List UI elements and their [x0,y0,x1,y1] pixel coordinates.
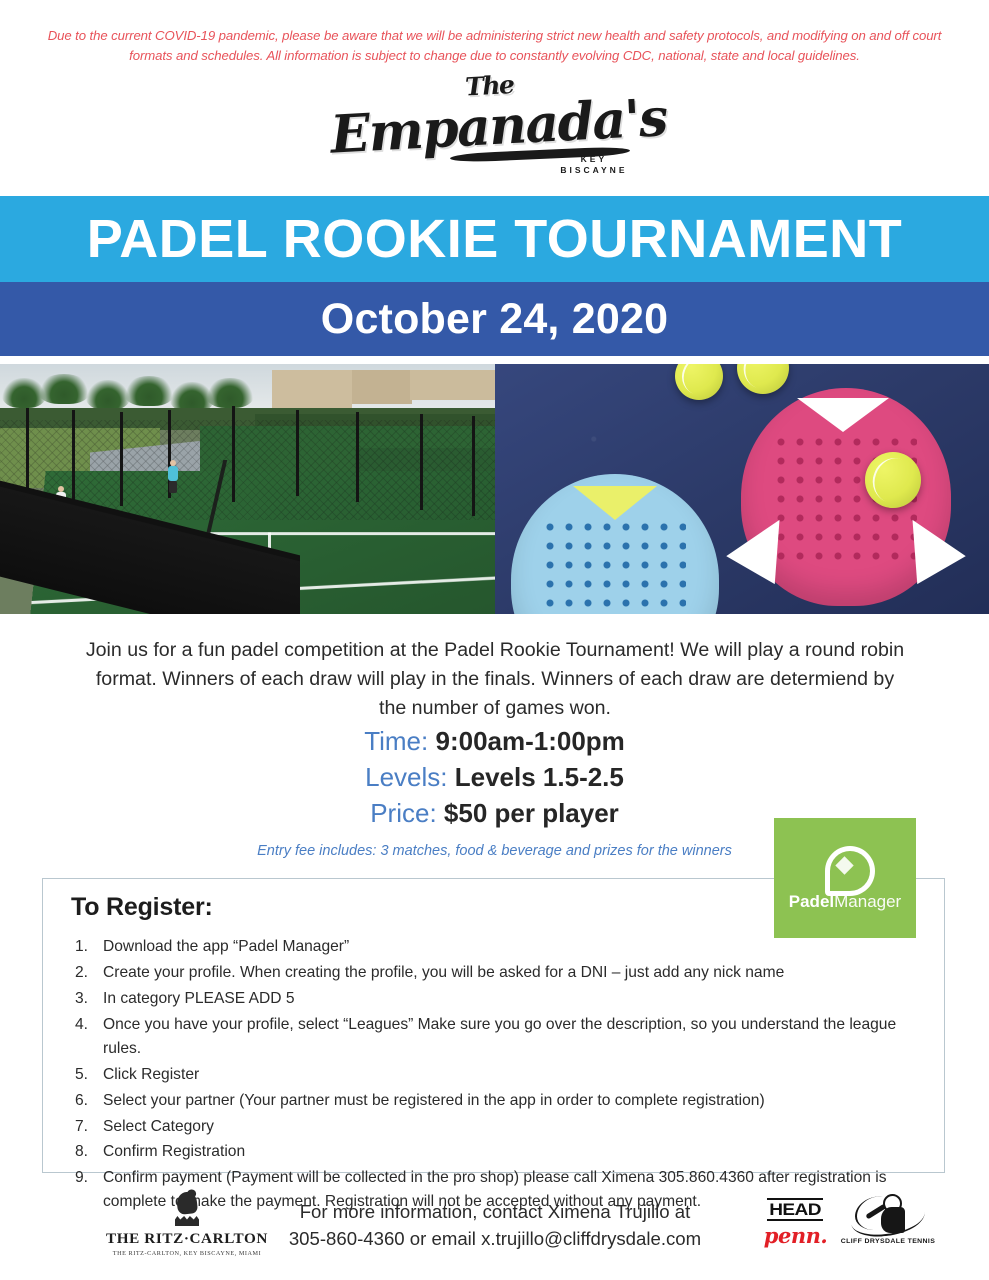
flyer-page: Due to the current COVID-19 pandemic, pl… [0,0,989,1280]
list-item: 2.Create your profile. When creating the… [61,961,927,985]
fence-post [72,410,75,510]
detail-label-time: Time: [364,726,428,756]
event-details: Time: 9:00am-1:00pm Levels: Levels 1.5-2… [0,723,989,831]
photo-strip [0,364,989,614]
empanadas-logo: The Empanada's KEY BISCAYNE [0,80,989,185]
tennis-player-icon [851,1194,925,1236]
padel-manager-pin-icon [825,846,865,888]
padel-manager-light: Manager [834,892,901,911]
pink-padel-racket [741,388,951,606]
detail-value-price: $50 per player [444,798,619,828]
list-item: 3.In category PLEASE ADD 5 [61,987,927,1011]
fence-post [356,412,359,502]
list-item: 7.Select Category [61,1115,927,1139]
logo-location: KEY BISCAYNE [560,154,627,176]
contact-line-1: For more information, contact Ximena Tru… [260,1198,730,1225]
step-number: 3. [75,987,97,1011]
detail-label-levels: Levels: [365,762,447,792]
player-silhouette [168,460,178,493]
cliff-drysdale-tennis-logo: CLIFF DRYSDALE TENNIS [838,1194,938,1245]
covid-notice: Due to the current COVID-19 pandemic, pl… [40,26,949,66]
head-wordmark: HEAD [767,1198,823,1221]
step-number: 6. [75,1089,97,1113]
fence-post [232,406,235,502]
detail-value-time: 9:00am-1:00pm [435,726,624,756]
list-item: 4.Once you have your profile, select “Le… [61,1013,927,1060]
background-building [410,370,495,400]
background-building [272,370,352,410]
cliff-drysdale-label: CLIFF DRYSDALE TENNIS [836,1238,941,1245]
register-heading: To Register: [71,893,213,922]
ritz-carlton-logo: THE RITZ·CARLTON THE RITZ-CARLTON, KEY B… [92,1192,282,1259]
padel-manager-logo: PadelManager [774,818,916,938]
detail-row-time: Time: 9:00am-1:00pm [0,723,989,759]
step-number: 7. [75,1115,97,1139]
step-text: In category PLEASE ADD 5 [103,990,295,1007]
fence-post [296,410,299,496]
step-number: 5. [75,1063,97,1087]
padel-manager-wordmark: PadelManager [789,892,901,911]
tennis-ball [865,452,921,508]
list-item: 8.Confirm Registration [61,1140,927,1164]
head-penn-logo: HEAD penn. [748,1198,843,1248]
background-building [352,370,412,404]
step-number: 8. [75,1140,97,1164]
ritz-carlton-name: THE RITZ·CARLTON [92,1230,282,1248]
step-text: Select your partner (Your partner must b… [103,1092,765,1109]
intro-paragraph: Join us for a fun padel competition at t… [85,636,905,723]
tournament-title: PADEL ROOKIE TOURNAMENT [87,210,903,268]
list-item: 6.Select your partner (Your partner must… [61,1089,927,1113]
list-item: 5.Click Register [61,1063,927,1087]
ritz-carlton-subtitle: THE RITZ-CARLTON, KEY BISCAYNE, MIAMI [92,1249,282,1259]
fence-post [120,412,123,506]
step-number: 9. [75,1166,97,1190]
detail-label-price: Price: [370,798,436,828]
fence-post [420,414,423,510]
step-text: Once you have your profile, select “Leag… [103,1016,896,1057]
contact-info: For more information, contact Ximena Tru… [260,1198,730,1252]
step-text: Confirm Registration [103,1143,245,1160]
register-steps-list: 1.Download the app “Padel Manager” 2.Cre… [61,935,927,1216]
lion-crest-icon [174,1192,200,1226]
step-number: 4. [75,1013,97,1037]
fence-post [472,416,475,516]
tournament-date: October 24, 2020 [321,296,668,342]
logo-location-line1: KEY [560,154,627,165]
tournament-date-banner: October 24, 2020 [0,282,989,356]
contact-line-2: 305-860-4360 or email x.trujillo@cliffdr… [260,1225,730,1252]
detail-row-levels: Levels: Levels 1.5-2.5 [0,759,989,795]
step-number: 2. [75,961,97,985]
padel-rackets-photo [495,364,989,614]
step-text: Select Category [103,1118,214,1135]
padel-courts-photo [0,364,495,614]
logo-location-line2: BISCAYNE [560,165,627,176]
list-item: 1.Download the app “Padel Manager” [61,935,927,959]
tournament-title-banner: PADEL ROOKIE TOURNAMENT [0,196,989,282]
detail-value-levels: Levels 1.5-2.5 [455,762,624,792]
penn-wordmark: penn. [748,1224,843,1248]
step-text: Download the app “Padel Manager” [103,938,349,955]
step-number: 1. [75,935,97,959]
step-text: Create your profile. When creating the p… [103,964,784,981]
step-text: Click Register [103,1066,199,1083]
